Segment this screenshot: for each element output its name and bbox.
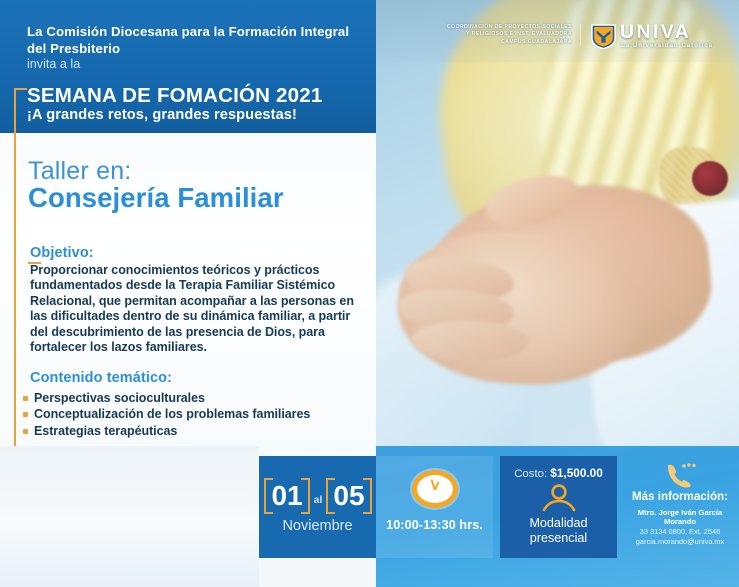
cost-panel: Costo: $1,500.00 Modalidad presencial: [500, 456, 617, 558]
cost-label: Costo:: [514, 468, 547, 480]
content-title: Contenido temático:: [30, 370, 172, 386]
date-start: 01: [266, 481, 307, 511]
date-end-value: 05: [333, 480, 364, 511]
coordination-line-2: Y RELIGIOSOS E INST. EVALUADORA: [405, 31, 572, 38]
date-join-label: al: [308, 494, 329, 506]
photo-overlay: [376, 0, 739, 446]
univa-shield-icon: [591, 23, 616, 49]
objective-title: Objetivo:: [30, 245, 94, 261]
hero-photo-hands: [376, 0, 739, 446]
bracket-cap: [326, 512, 335, 514]
brand-name: UNIVA: [620, 22, 691, 43]
date-start-value: 01: [271, 480, 302, 511]
clock-icon: [376, 470, 493, 508]
objective-body: Proporcionar conocimientos teóricos y pr…: [30, 263, 355, 355]
bracket-cap: [301, 478, 310, 480]
date-block: 01 al 05 Noviembre: [259, 456, 376, 558]
time-panel: 10:00-13:30 hrs.: [376, 456, 493, 558]
brand-tagline: La Universidad Católica: [621, 42, 713, 49]
workshop-label: Taller en:: [28, 157, 131, 185]
coordination-text: COORDINACIÓN DE PROYECTOS SOCIALES Y REL…: [405, 24, 572, 46]
logo-divider: [580, 24, 581, 46]
clock-hour-hand: [434, 482, 439, 491]
date-end: 05: [328, 481, 369, 511]
event-title: SEMANA DE FOMACIÓN 2021: [27, 84, 322, 107]
bottom-left-spacer: [0, 446, 259, 587]
phone-icon: [624, 462, 736, 488]
modality-line-2: presencial: [500, 531, 617, 546]
organization-line: La Comisión Diocesana para la Formación …: [27, 24, 357, 57]
workshop-name: Consejería Familiar: [28, 182, 284, 214]
cost-value: $1,500.00: [550, 466, 602, 480]
bracket-cap: [326, 478, 335, 480]
event-subtitle: ¡A grandes retos, grandes respuestas!: [27, 107, 297, 124]
bracket-cap: [264, 512, 273, 514]
contact-panel: Más información: Mtro. Jorge Iván García…: [624, 456, 736, 558]
month-label: Noviembre: [259, 518, 376, 534]
modality-line-1: Modalidad: [500, 516, 617, 531]
contact-email: garcia.morando@univa.mx: [624, 537, 736, 547]
contact-name: Mtro. Jorge Iván García Morando: [624, 508, 736, 527]
person-icon: [500, 484, 617, 512]
date-range: 01 al 05: [268, 476, 368, 516]
contact-title: Más información:: [624, 490, 736, 503]
cost-line: Costo: $1,500.00: [500, 466, 617, 480]
list-item: Perspectivas socioculturales: [22, 390, 352, 406]
list-item: Conceptualización de los problemas famil…: [22, 406, 352, 422]
list-item: Estrategias terapéuticas: [22, 423, 352, 439]
bracket-cap: [301, 512, 310, 514]
bracket-cap: [363, 512, 372, 514]
invitation-label: invita a la: [27, 57, 80, 72]
contact-phone: 33 3134 0800, Ext. 2546: [624, 527, 736, 537]
poster-root: La Comisión Diocesana para la Formación …: [0, 0, 739, 587]
coordination-line-3: CAMPUS GUADALAJARA: [405, 39, 572, 46]
clock-face: [412, 470, 458, 508]
bracket-cap: [363, 478, 372, 480]
time-label: 10:00-13:30 hrs.: [376, 518, 493, 532]
bracket-cap: [264, 478, 273, 480]
modality-label: Modalidad presencial: [500, 516, 617, 545]
content-list: Perspectivas socioculturales Conceptuali…: [22, 390, 352, 439]
